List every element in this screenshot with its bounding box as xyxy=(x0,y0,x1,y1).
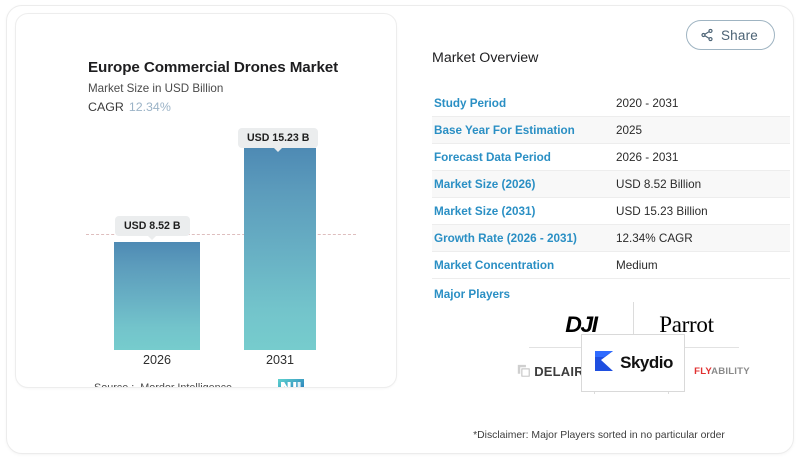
bar-2026[interactable] xyxy=(114,242,200,350)
bar-value-label-2031: USD 15.23 B xyxy=(238,128,318,148)
source-label: Source : xyxy=(94,382,134,388)
table-row: Market Size (2026) USD 8.52 Billion xyxy=(432,171,790,198)
chart-source: Source : Mordor Intelligence xyxy=(94,379,304,388)
major-players-logos: DJI Parrot DELAIR xyxy=(507,302,757,394)
flyability-prefix: FLY xyxy=(694,366,711,377)
skydio-mark-icon xyxy=(593,349,615,378)
flyability-logo-text: FLYABILITY xyxy=(694,366,750,377)
table-row: Market Size (2031) USD 15.23 Billion xyxy=(432,198,790,225)
table-row: Base Year For Estimation 2025 xyxy=(432,117,790,144)
row-value: Medium xyxy=(616,259,658,272)
x-axis-label-2026: 2026 xyxy=(114,353,200,367)
chart-card: Europe Commercial Drones Market Market S… xyxy=(15,13,397,388)
share-button[interactable]: Share xyxy=(686,20,775,50)
source-name: Mordor Intelligence xyxy=(140,382,232,388)
share-nodes-icon xyxy=(700,28,714,42)
row-value: 12.34% CAGR xyxy=(616,232,693,245)
row-key: Growth Rate (2026 - 2031) xyxy=(434,232,616,245)
row-key: Market Concentration xyxy=(434,259,616,272)
table-row: Growth Rate (2026 - 2031) 12.34% CAGR xyxy=(432,225,790,252)
skydio-logo: Skydio xyxy=(581,334,685,392)
overview-title: Market Overview xyxy=(432,50,787,66)
page-container: Share Europe Commercial Drones Market Ma… xyxy=(6,5,794,454)
market-overview-header: Market Overview xyxy=(432,50,787,66)
disclaimer-text: *Disclaimer: Major Players sorted in no … xyxy=(429,430,769,441)
row-key: Market Size (2026) xyxy=(434,178,616,191)
table-row: Forecast Data Period 2026 - 2031 xyxy=(432,144,790,171)
delair-logo-text: DELAIR xyxy=(534,364,584,379)
bar-chart-plot: USD 8.52 B USD 15.23 B 2026 2031 xyxy=(16,14,397,388)
row-value: 2020 - 2031 xyxy=(616,97,678,110)
mordor-intelligence-logo xyxy=(278,379,304,388)
row-value: 2025 xyxy=(616,124,642,137)
table-row: Study Period 2020 - 2031 xyxy=(432,90,790,117)
row-value: 2026 - 2031 xyxy=(616,151,678,164)
row-key: Study Period xyxy=(434,97,616,110)
skydio-logo-text: Skydio xyxy=(620,353,673,373)
row-key: Forecast Data Period xyxy=(434,151,616,164)
row-value: USD 8.52 Billion xyxy=(616,178,701,191)
row-key: Market Size (2031) xyxy=(434,205,616,218)
screenshot-root: Share Europe Commercial Drones Market Ma… xyxy=(0,0,800,459)
row-key: Base Year For Estimation xyxy=(434,124,616,137)
x-axis-label-2031: 2031 xyxy=(244,353,316,367)
market-overview-table: Study Period 2020 - 2031 Base Year For E… xyxy=(432,90,790,309)
table-row: Market Concentration Medium xyxy=(432,252,790,279)
major-players-label: Major Players xyxy=(434,288,616,301)
share-button-label: Share xyxy=(721,28,758,43)
row-value: USD 15.23 Billion xyxy=(616,205,708,218)
delair-mark-icon xyxy=(517,362,534,380)
flyability-suffix: ABILITY xyxy=(711,366,750,377)
bar-value-label-2026: USD 8.52 B xyxy=(115,216,190,236)
bar-2031[interactable] xyxy=(244,148,316,350)
